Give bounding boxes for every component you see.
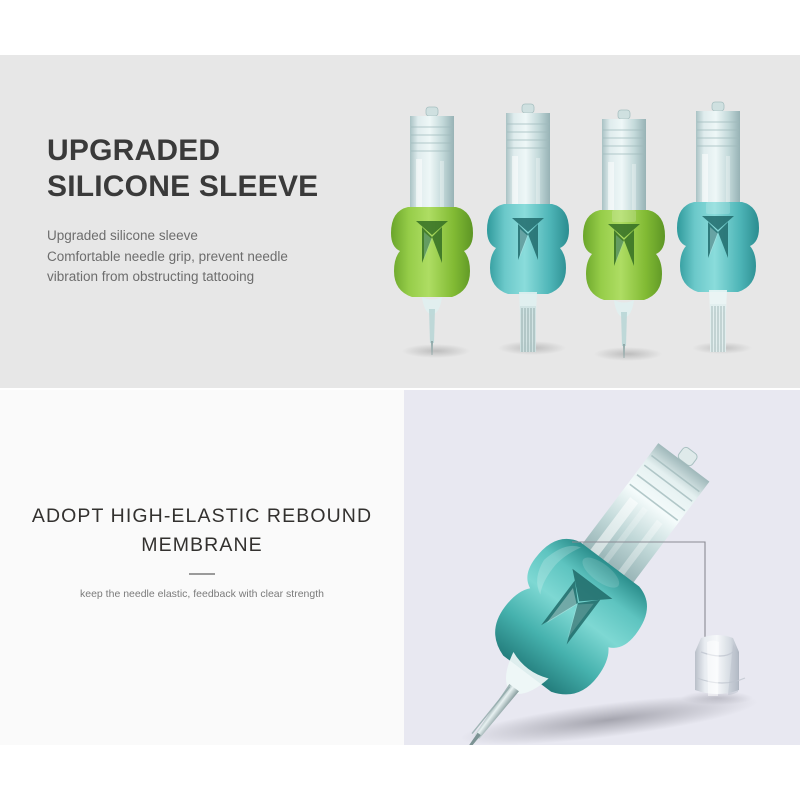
infographic-page: UPGRADED SILICONE SLEEVE Upgraded silico… <box>0 0 800 800</box>
top-body-line-2: Comfortable needle grip, prevent needle <box>47 247 377 268</box>
bottom-left-pane: ADOPT HIGH-ELASTIC REBOUND MEMBRANE keep… <box>0 390 404 745</box>
cartridge-2 <box>476 100 580 360</box>
section-upgraded-silicone-sleeve: UPGRADED SILICONE SLEEVE Upgraded silico… <box>0 55 800 388</box>
top-section-heading: UPGRADED SILICONE SLEEVE <box>47 133 377 205</box>
rebound-membrane-part <box>695 635 745 696</box>
bottom-section-copy: ADOPT HIGH-ELASTIC REBOUND MEMBRANE keep… <box>0 502 404 602</box>
top-heading-line-1: UPGRADED <box>47 133 377 169</box>
cartridge-3-graphic <box>572 106 676 366</box>
bottom-heading-line-1: ADOPT HIGH-ELASTIC REBOUND <box>18 502 386 531</box>
bottom-right-pane <box>404 390 800 745</box>
cartridge-2-graphic <box>476 100 580 360</box>
section-rebound-membrane: ADOPT HIGH-ELASTIC REBOUND MEMBRANE keep… <box>0 390 800 745</box>
cartridge-4 <box>666 98 770 358</box>
bottom-heading-line-2: MEMBRANE <box>18 531 386 560</box>
top-body-line-1: Upgraded silicone sleeve <box>47 226 377 247</box>
heading-divider <box>189 573 215 575</box>
bottom-section-subtitle: keep the needle elastic, feedback with c… <box>0 586 404 602</box>
cartridge-1-graphic <box>380 103 484 363</box>
cartridge-row <box>378 55 800 388</box>
top-body-line-3: vibration from obstructing tattooing <box>47 267 377 288</box>
callout-leader-line <box>572 542 705 660</box>
bottom-section-heading: ADOPT HIGH-ELASTIC REBOUND MEMBRANE <box>0 502 404 561</box>
top-heading-line-2: SILICONE SLEEVE <box>47 169 377 205</box>
top-section-copy: UPGRADED SILICONE SLEEVE Upgraded silico… <box>47 133 377 288</box>
membrane-callout <box>404 390 800 745</box>
cartridge-1 <box>380 103 484 363</box>
cartridge-4-graphic <box>666 98 770 358</box>
cartridge-3 <box>572 106 676 366</box>
top-section-body: Upgraded silicone sleeve Comfortable nee… <box>47 226 377 288</box>
